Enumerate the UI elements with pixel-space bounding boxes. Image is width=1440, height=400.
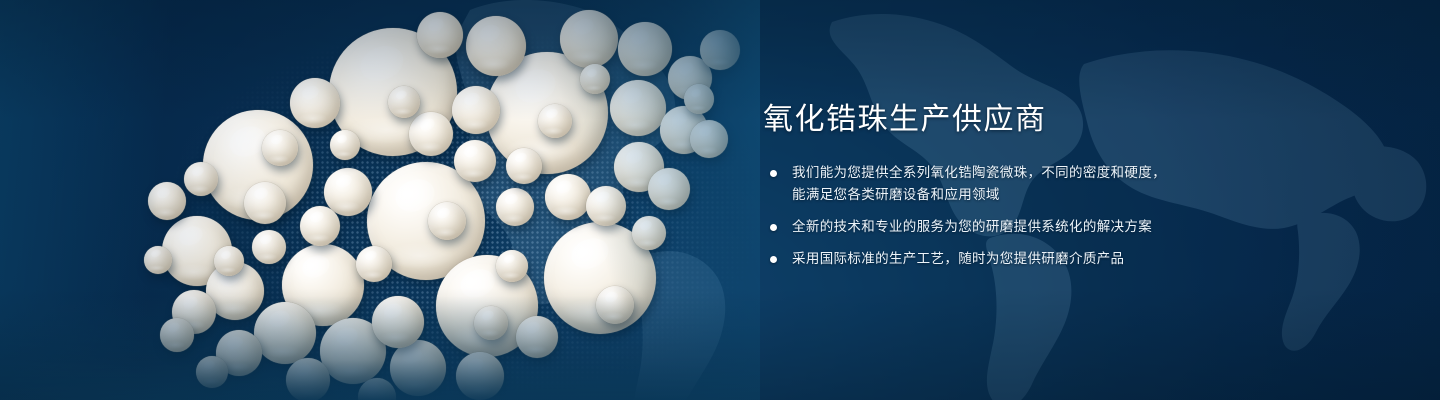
bullet-dot-icon — [770, 170, 777, 177]
page-title: 氧化锆珠生产供应商 — [763, 104, 1323, 136]
list-item: 全新的技术和专业的服务为您的研磨提供系统化的解决方案 — [763, 216, 1323, 238]
list-item-line-1: 采用国际标准的生产工艺，随时为您提供研磨介质产品 — [792, 251, 1124, 266]
banner-content: 氧化锆珠生产供应商 我们能为您提供全系列氧化锆陶瓷微珠，不同的密度和硬度， 能满… — [763, 104, 1323, 270]
list-item-line-1: 我们能为您提供全系列氧化锆陶瓷微珠，不同的密度和硬度， — [792, 165, 1166, 180]
list-item: 采用国际标准的生产工艺，随时为您提供研磨介质产品 — [763, 248, 1323, 270]
bullet-dot-icon — [770, 224, 777, 231]
list-item-line-1: 全新的技术和专业的服务为您的研磨提供系统化的解决方案 — [792, 219, 1152, 234]
hero-banner: 氧化锆珠生产供应商 我们能为您提供全系列氧化锆陶瓷微珠，不同的密度和硬度， 能满… — [0, 0, 1440, 400]
list-item: 我们能为您提供全系列氧化锆陶瓷微珠，不同的密度和硬度， 能满足您各类研磨设备和应… — [763, 162, 1323, 206]
list-item-line-2: 能满足您各类研磨设备和应用领域 — [792, 184, 1323, 206]
bullet-dot-icon — [770, 256, 777, 263]
feature-list: 我们能为您提供全系列氧化锆陶瓷微珠，不同的密度和硬度， 能满足您各类研磨设备和应… — [763, 162, 1323, 270]
